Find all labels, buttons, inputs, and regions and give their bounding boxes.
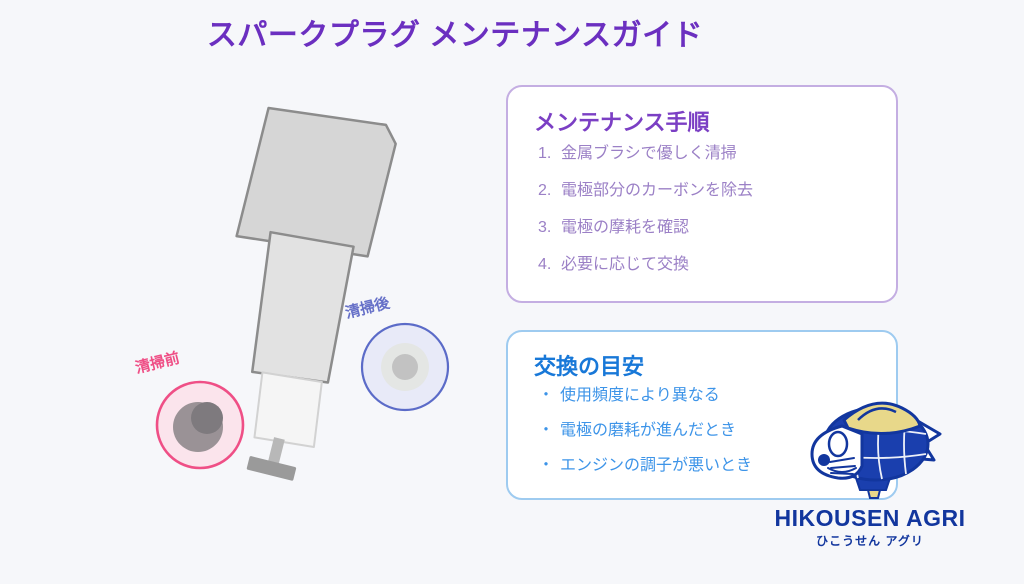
slide-canvas: スパークプラグ メンテナンスガイド (0, 0, 1024, 584)
list-text: 電極の磨耗が進んだとき (560, 423, 736, 439)
maintenance-steps-list: 1. 金属ブラシで優しく清掃 2. 電極部分のカーボンを除去 3. 電極の摩耗を… (538, 146, 753, 294)
list-text: 必要に応じて交換 (561, 257, 689, 273)
logo-subtitle: ひこうせん アグリ (770, 532, 970, 549)
list-item: 2. 電極部分のカーボンを除去 (538, 183, 753, 199)
airship-cat-mascot-icon (798, 382, 948, 502)
list-text: 使用頻度により異なる (560, 388, 720, 404)
list-item: ・ 電極の磨耗が進んだとき (538, 423, 752, 439)
page-title: スパークプラグ メンテナンスガイド (0, 10, 910, 54)
list-text: 金属ブラシで優しく清掃 (561, 146, 737, 162)
list-marker: ・ (538, 458, 554, 474)
list-item: 3. 電極の摩耗を確認 (538, 220, 753, 236)
list-marker: 4. (538, 257, 555, 273)
mascot-anchor (868, 490, 880, 498)
list-item: ・ エンジンの調子が悪いとき (538, 458, 752, 474)
mascot-eye (829, 432, 847, 456)
list-item: ・ 使用頻度により異なる (538, 388, 752, 404)
electrode-before-dirty (157, 382, 243, 468)
list-marker: ・ (538, 388, 554, 404)
list-text: 電極部分のカーボンを除去 (561, 183, 753, 199)
list-marker: 2. (538, 183, 555, 199)
list-text: エンジンの調子が悪いとき (560, 458, 752, 474)
before-carbon-deposit (191, 402, 223, 434)
plug-center-electrode (268, 437, 285, 465)
mascot-nose (818, 454, 830, 466)
card-heading-replacement: 交換の目安 (534, 349, 644, 381)
card-heading-maintenance: メンテナンス手順 (534, 105, 710, 137)
list-text: 電極の摩耗を確認 (561, 220, 689, 236)
list-marker: 3. (538, 220, 555, 236)
list-item: 1. 金属ブラシで優しく清掃 (538, 146, 753, 162)
brand-logo: HIKOUSEN AGRI ひこうせん アグリ (770, 382, 970, 562)
card-maintenance-steps: メンテナンス手順 1. 金属ブラシで優しく清掃 2. 電極部分のカーボンを除去 … (506, 85, 898, 303)
spark-plug-illustration: 清掃前 清掃後 (110, 70, 500, 510)
list-item: 4. 必要に応じて交換 (538, 257, 753, 273)
spark-plug-svg (110, 70, 500, 510)
electrode-after-clean (362, 324, 448, 410)
logo-wordmark: HIKOUSEN AGRI (770, 505, 970, 532)
plug-metal-shell (237, 226, 362, 390)
after-center-electrode (392, 354, 418, 380)
list-marker: ・ (538, 423, 554, 439)
replacement-guide-list: ・ 使用頻度により異なる ・ 電極の磨耗が進んだとき ・ エンジンの調子が悪いと… (538, 388, 752, 493)
list-marker: 1. (538, 146, 555, 162)
